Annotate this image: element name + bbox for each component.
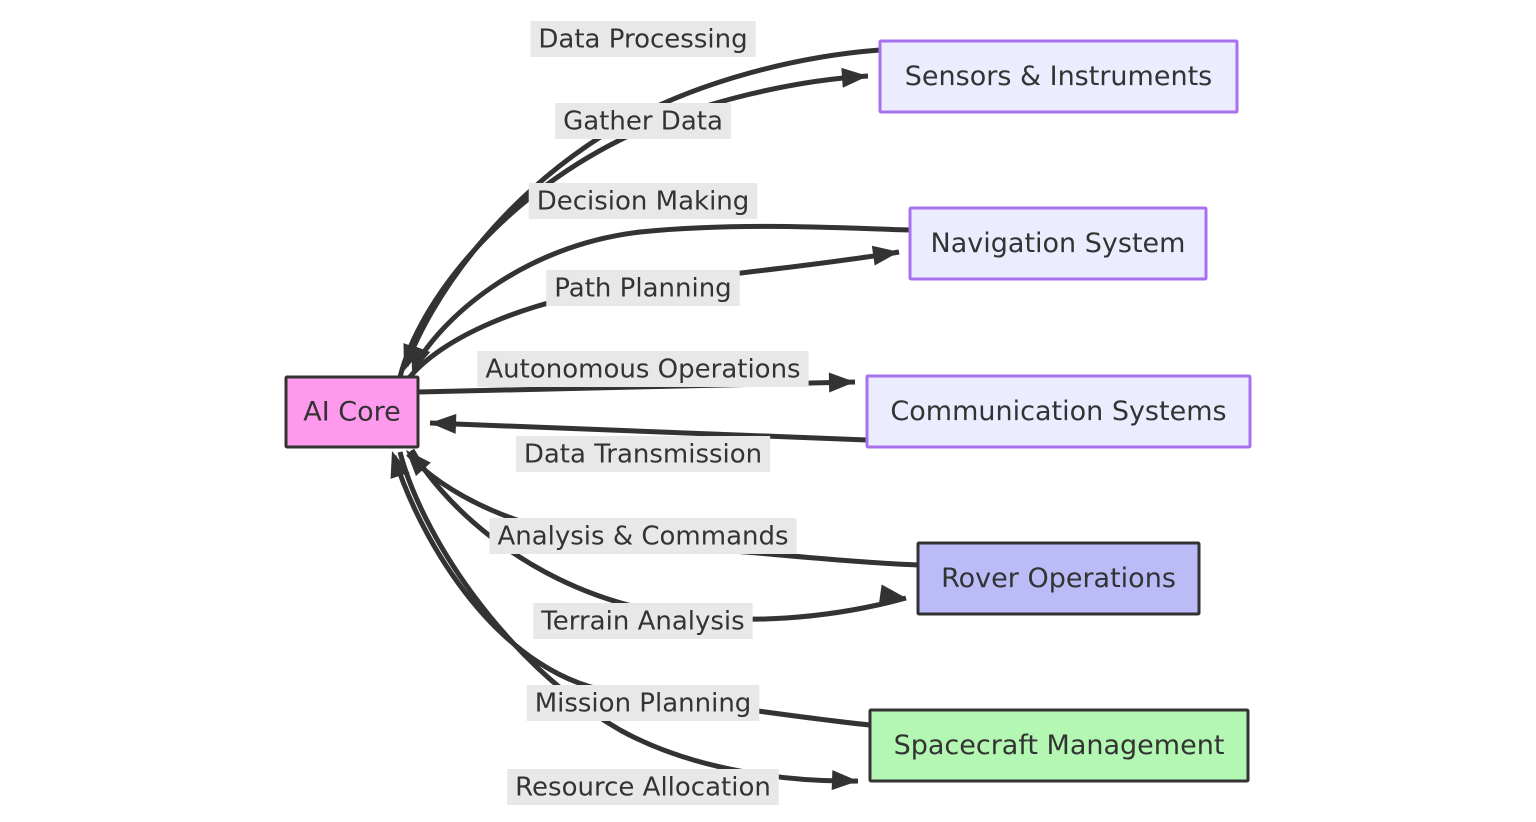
node-ai_core[interactable]: AI Core — [286, 377, 418, 447]
node-label: Navigation System — [931, 228, 1186, 259]
edge-label-text: Data Transmission — [524, 440, 762, 470]
edge-label-e_navigation_core: Decision Making — [529, 183, 758, 219]
edge-label-text: Resource Allocation — [515, 773, 771, 803]
arrowhead-icon — [841, 66, 868, 88]
flowchart-canvas: AI CoreSensors & InstrumentsNavigation S… — [0, 0, 1536, 822]
node-communication[interactable]: Communication Systems — [867, 376, 1250, 447]
arrowhead-icon — [832, 770, 859, 791]
edge-label-text: Mission Planning — [535, 689, 752, 719]
node-navigation[interactable]: Navigation System — [910, 208, 1206, 279]
edge-label-e_rover_core: Analysis & Commands — [489, 518, 796, 554]
edge-label-e_communication_core: Data Transmission — [516, 436, 770, 472]
node-label: Sensors & Instruments — [905, 61, 1212, 92]
edge-label-e_spacecraft_core: Mission Planning — [527, 685, 760, 721]
edge-label-text: Path Planning — [554, 274, 731, 304]
node-label: Communication Systems — [890, 396, 1226, 427]
node-label: Spacecraft Management — [894, 730, 1225, 761]
edge-label-e_core_sensors: Gather Data — [555, 103, 731, 139]
arrowhead-icon — [430, 413, 457, 434]
node-spacecraft[interactable]: Spacecraft Management — [870, 710, 1248, 781]
node-label: AI Core — [303, 397, 401, 428]
edge-communication-to-ai_core — [430, 413, 867, 440]
edge-labels-layer: Gather DataData ProcessingPath PlanningD… — [477, 21, 808, 805]
edge-label-text: Decision Making — [537, 187, 750, 217]
edge-label-text: Gather Data — [563, 107, 723, 137]
edge-label-e_core_navigation: Path Planning — [546, 270, 739, 306]
arrowhead-icon — [829, 372, 855, 392]
edge-label-text: Analysis & Commands — [497, 522, 788, 552]
edges-layer — [382, 50, 918, 791]
edge-label-e_core_rover: Terrain Analysis — [533, 603, 752, 639]
edge-label-e_sensors_core: Data Processing — [530, 21, 755, 57]
node-label: Rover Operations — [941, 563, 1176, 594]
edge-label-text: Data Processing — [538, 25, 747, 55]
edge-label-e_core_communication: Autonomous Operations — [477, 351, 808, 387]
flowchart-diagram: AI CoreSensors & InstrumentsNavigation S… — [0, 0, 1536, 822]
edge-label-text: Autonomous Operations — [485, 355, 800, 385]
edge-label-e_core_spacecraft: Resource Allocation — [507, 769, 779, 805]
nodes-layer: AI CoreSensors & InstrumentsNavigation S… — [286, 41, 1250, 781]
node-rover[interactable]: Rover Operations — [918, 543, 1199, 614]
node-sensors[interactable]: Sensors & Instruments — [880, 41, 1237, 112]
edge-label-text: Terrain Analysis — [540, 607, 744, 637]
